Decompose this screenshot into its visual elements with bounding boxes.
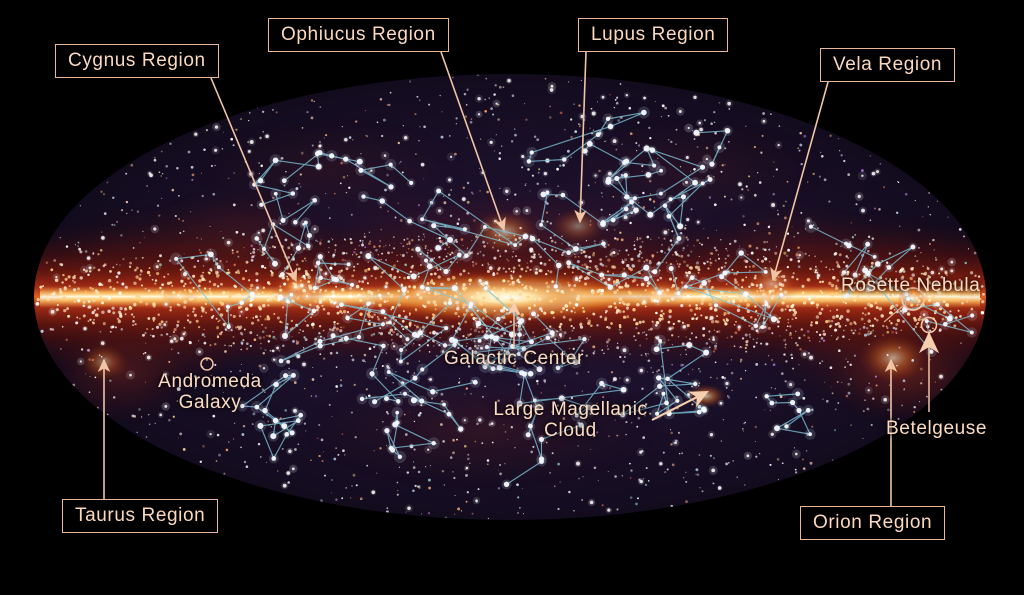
sky-map-canvas: Cygnus Region Ophiucus Region Lupus Regi… [0,0,1024,595]
callout-lupus-region[interactable]: Lupus Region [578,18,728,52]
callout-label-text: Orion Region [813,512,932,533]
callout-orion-region[interactable]: Orion Region [800,506,945,540]
callout-cygnus-region[interactable]: Cygnus Region [55,44,219,78]
label-text-line1: Andromeda [155,371,265,392]
callout-label-text: Ophiucus Region [281,24,436,45]
callout-vela-region[interactable]: Vela Region [820,48,955,82]
label-rosette-nebula: Rosette Nebula [841,275,980,296]
label-text: Galactic Center [444,348,584,369]
callout-label-text: Vela Region [833,54,942,75]
callout-ophiucus-region[interactable]: Ophiucus Region [268,18,449,52]
callout-label-text: Lupus Region [591,24,715,45]
label-andromeda-galaxy: Andromeda Galaxy [155,371,265,414]
label-text-line2: Galaxy [155,392,265,413]
label-text-line1: Large Magellanic [483,399,658,420]
label-text-line2: Cloud [483,420,658,441]
sky-contents [20,70,1015,526]
callout-label-text: Taurus Region [75,505,205,526]
label-galactic-center: Galactic Center [444,348,584,369]
label-text: Betelgeuse [886,418,987,439]
label-text: Rosette Nebula [841,275,980,296]
label-large-magellanic-cloud: Large Magellanic Cloud [483,399,658,442]
callout-label-text: Cygnus Region [68,50,206,71]
callout-taurus-region[interactable]: Taurus Region [62,499,218,533]
label-betelgeuse: Betelgeuse [886,418,987,439]
